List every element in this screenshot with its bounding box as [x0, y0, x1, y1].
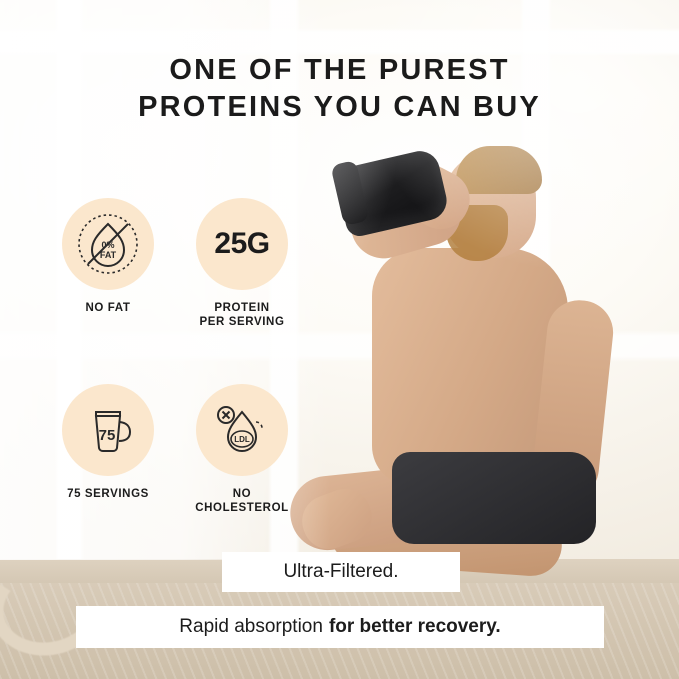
caption-rapid-absorption-bold: for better recovery. — [329, 616, 501, 638]
no-fat-circle: 0% FAT — [62, 198, 154, 290]
servings-circle: 75 — [62, 384, 154, 476]
feature-label-protein: PROTEIN PER SERVING — [180, 301, 304, 330]
feature-label-cholesterol-line1: NO — [180, 487, 304, 501]
caption-ultra-filtered-text: Ultra-Filtered. — [283, 561, 398, 583]
headline-line-2: PROTEINS YOU CAN BUY — [0, 89, 679, 126]
protein-grams-icon: 25G — [214, 227, 269, 261]
ldl-text: LDL — [234, 435, 250, 444]
feature-no-fat: 0% FAT NO FAT — [46, 198, 170, 330]
no-fat-word-text: FAT — [100, 250, 117, 260]
headline-line-1: ONE OF THE PUREST — [169, 54, 509, 86]
product-infographic: ONE OF THE PUREST PROTEINS YOU CAN BUY 0… — [0, 0, 679, 679]
cholesterol-circle: LDL — [196, 384, 288, 476]
feature-protein-per-serving: 25G PROTEIN PER SERVING — [180, 198, 304, 330]
caption-ultra-filtered: Ultra-Filtered. — [222, 552, 460, 592]
feature-row-bottom: 75 75 SERVINGS LDL — [46, 384, 304, 516]
servings-count-text: 75 — [99, 427, 116, 444]
feature-badges: 0% FAT NO FAT 25G PROTEIN PER SERVING — [46, 198, 304, 516]
shorts — [392, 452, 596, 544]
caption-rapid-absorption: Rapid absorption for better recovery. — [76, 606, 604, 648]
feature-row-top: 0% FAT NO FAT 25G PROTEIN PER SERVING — [46, 198, 304, 330]
feature-label-cholesterol-line2: CHOLESTEROL — [180, 501, 304, 515]
feature-label-servings: 75 SERVINGS — [46, 487, 170, 501]
feature-no-cholesterol: LDL NO CHOLESTEROL — [180, 384, 304, 516]
no-fat-icon: 0% FAT — [76, 212, 140, 276]
feature-label-cholesterol: NO CHOLESTEROL — [180, 487, 304, 516]
servings-cup-icon: 75 — [76, 398, 140, 462]
caption-rapid-absorption-plain: Rapid absorption — [179, 616, 323, 638]
feature-servings: 75 75 SERVINGS — [46, 384, 170, 516]
protein-circle: 25G — [196, 198, 288, 290]
no-cholesterol-icon: LDL — [208, 398, 276, 462]
hair — [456, 146, 542, 194]
feature-label-protein-line1: PROTEIN — [180, 301, 304, 315]
headline: ONE OF THE PUREST PROTEINS YOU CAN BUY — [0, 52, 679, 126]
feature-label-no-fat: NO FAT — [46, 301, 170, 315]
feature-label-protein-line2: PER SERVING — [180, 315, 304, 329]
row-spacer — [46, 330, 304, 384]
